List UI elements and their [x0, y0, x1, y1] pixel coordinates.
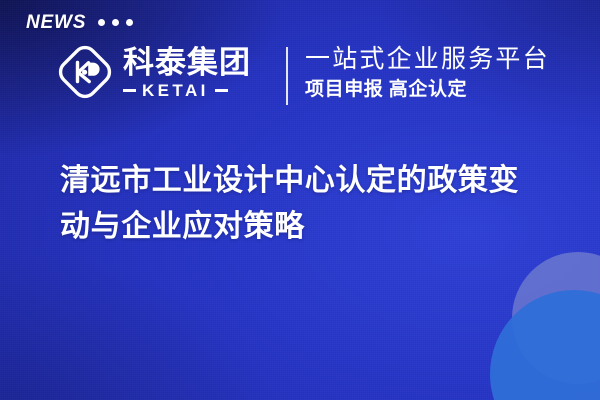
headline: 清远市工业设计中心认定的政策变 动与企业应对策略	[60, 158, 565, 249]
news-banner: NEWS 科泰集团 KETAI 一站式企业服	[0, 0, 600, 400]
brand-rule-right-icon	[215, 89, 228, 92]
news-dot-icon	[126, 19, 133, 26]
brand-name-en: KETAI	[142, 82, 209, 99]
tagline-block: 一站式企业服务平台 项目申报 高企认定	[305, 44, 550, 101]
news-label: NEWS	[26, 13, 86, 32]
brand-text-block: 科泰集团 KETAI	[123, 45, 251, 99]
brand-logo: 科泰集团 KETAI	[57, 44, 251, 100]
headline-line: 清远市工业设计中心认定的政策变	[60, 158, 565, 204]
news-dot-icon	[112, 19, 119, 26]
headline-line: 动与企业应对策略	[60, 204, 565, 250]
ketai-kp-diamond-logo-icon	[57, 44, 113, 100]
brand-name-cn: 科泰集团	[123, 47, 251, 80]
brand-name-en-row: KETAI	[123, 82, 251, 99]
news-eyebrow: NEWS	[26, 13, 133, 32]
news-dots-icon	[98, 19, 133, 26]
tagline-secondary: 项目申报 高企认定	[305, 79, 550, 102]
brand-rule-left-icon	[123, 89, 136, 92]
news-dot-icon	[98, 19, 105, 26]
tagline-primary: 一站式企业服务平台	[305, 44, 550, 75]
logo-tagline-divider	[286, 47, 288, 105]
